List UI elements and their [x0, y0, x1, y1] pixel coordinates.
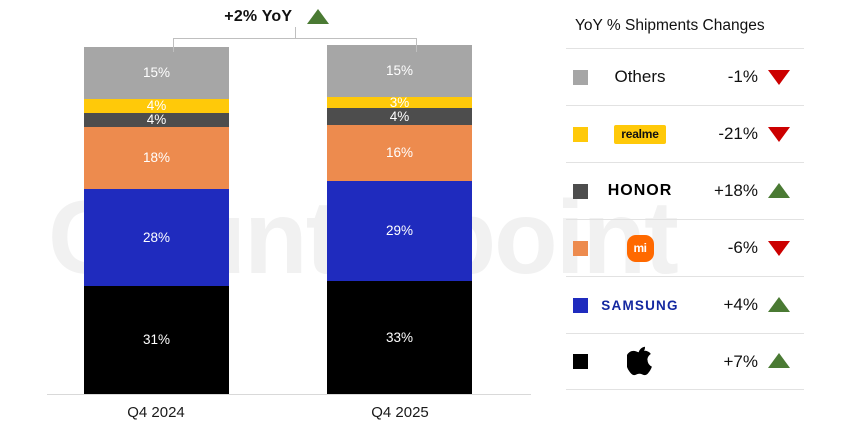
bar-segment-label: 29% — [386, 224, 413, 238]
legend-row-samsung[interactable]: SAMSUNG +4% — [566, 276, 804, 333]
bar-segment-label: 28% — [143, 231, 170, 245]
yoy-callout-label: +2% YoY — [224, 8, 292, 25]
legend-row-honor[interactable]: HONOR +18% — [566, 162, 804, 219]
legend-change-others: -1% — [692, 67, 758, 87]
legend-row-xiaomi[interactable]: mi -6% — [566, 219, 804, 276]
triangle-up-icon — [307, 9, 329, 24]
samsung-logo: SAMSUNG — [601, 298, 678, 313]
triangle-up-icon — [768, 353, 790, 368]
bar-segment-samsung-2024[interactable]: 28% — [84, 189, 229, 286]
legend-swatch-others — [573, 70, 588, 85]
bar-segment-others-2024[interactable]: 15% — [84, 47, 229, 99]
legend-arrow-honor — [758, 184, 804, 199]
chart-panel: +2% YoY 15% 4% 4% 18% 28% 31% 15% 3% — [0, 0, 553, 440]
legend-brand-others: Others — [588, 49, 692, 105]
legend-brand-xiaomi: mi — [588, 220, 692, 276]
triangle-up-icon — [768, 297, 790, 312]
bar-segment-label: 4% — [390, 110, 410, 124]
bar-segment-xiaomi-2025[interactable]: 16% — [327, 125, 472, 181]
legend-change-honor: +18% — [692, 181, 758, 201]
legend-arrow-apple — [758, 354, 804, 369]
legend-swatch-apple — [573, 354, 588, 369]
triangle-down-icon — [768, 70, 790, 85]
legend-arrow-samsung — [758, 298, 804, 313]
bar-segment-label: 4% — [147, 99, 167, 113]
bar-segment-realme-2025[interactable]: 3% — [327, 97, 472, 108]
bar-segment-label: 18% — [143, 151, 170, 165]
triangle-down-icon — [768, 127, 790, 142]
bar-segment-label: 33% — [386, 331, 413, 345]
bar-segment-label: 16% — [386, 146, 413, 160]
yoy-callout: +2% YoY — [0, 8, 553, 26]
legend-change-xiaomi: -6% — [692, 238, 758, 258]
legend-swatch-xiaomi — [573, 241, 588, 256]
stacked-bar-q4-2024[interactable]: 15% 4% 4% 18% 28% 31% — [84, 47, 229, 394]
bar-segment-realme-2024[interactable]: 4% — [84, 99, 229, 113]
legend-rows: Others -1% realme -21% HONOR +18% — [566, 48, 804, 390]
x-axis-label-q4-2025: Q4 2025 — [300, 404, 500, 421]
bar-segment-label: 31% — [143, 333, 170, 347]
apple-logo — [627, 346, 653, 377]
bar-segment-label: 4% — [147, 113, 167, 127]
bar-segment-samsung-2025[interactable]: 29% — [327, 181, 472, 281]
bar-segment-honor-2025[interactable]: 4% — [327, 108, 472, 125]
bar-segment-label: 3% — [390, 96, 410, 110]
bracket-stem — [295, 27, 296, 39]
x-axis-label-q4-2024: Q4 2024 — [56, 404, 256, 421]
legend-brand-samsung: SAMSUNG — [588, 277, 692, 333]
legend-change-samsung: +4% — [692, 295, 758, 315]
xiaomi-logo: mi — [627, 235, 654, 262]
stacked-bar-q4-2025[interactable]: 15% 3% 4% 16% 29% 33% — [327, 45, 472, 394]
honor-logo: HONOR — [608, 182, 673, 200]
bar-segment-apple-2024[interactable]: 31% — [84, 286, 229, 394]
bar-segment-label: 15% — [143, 66, 170, 80]
legend-arrow-others — [758, 70, 804, 85]
bar-segment-others-2025[interactable]: 15% — [327, 45, 472, 97]
bar-segment-xiaomi-2024[interactable]: 18% — [84, 127, 229, 189]
legend-arrow-xiaomi — [758, 241, 804, 256]
legend-brand-realme: realme — [588, 106, 692, 162]
legend-panel: YoY % Shipments Changes Others -1% realm… — [553, 0, 845, 440]
legend-row-others[interactable]: Others -1% — [566, 48, 804, 105]
legend-arrow-realme — [758, 127, 804, 142]
legend-change-apple: +7% — [692, 352, 758, 372]
legend-row-realme[interactable]: realme -21% — [566, 105, 804, 162]
legend-brand-honor: HONOR — [588, 163, 692, 219]
legend-title: YoY % Shipments Changes — [575, 17, 765, 35]
bar-segment-label: 15% — [386, 64, 413, 78]
triangle-down-icon — [768, 241, 790, 256]
triangle-up-icon — [768, 183, 790, 198]
legend-brand-label: Others — [614, 67, 665, 87]
legend-swatch-realme — [573, 127, 588, 142]
legend-change-realme: -21% — [692, 124, 758, 144]
xiaomi-logo-glyph: mi — [633, 242, 646, 254]
legend-brand-apple — [588, 334, 692, 389]
bar-segment-honor-2024[interactable]: 4% — [84, 113, 229, 127]
legend-row-apple[interactable]: +7% — [566, 333, 804, 390]
x-axis-line — [47, 394, 531, 395]
legend-swatch-samsung — [573, 298, 588, 313]
realme-logo: realme — [614, 125, 666, 144]
yoy-bracket — [173, 38, 417, 52]
bar-segment-apple-2025[interactable]: 33% — [327, 281, 472, 394]
legend-swatch-honor — [573, 184, 588, 199]
